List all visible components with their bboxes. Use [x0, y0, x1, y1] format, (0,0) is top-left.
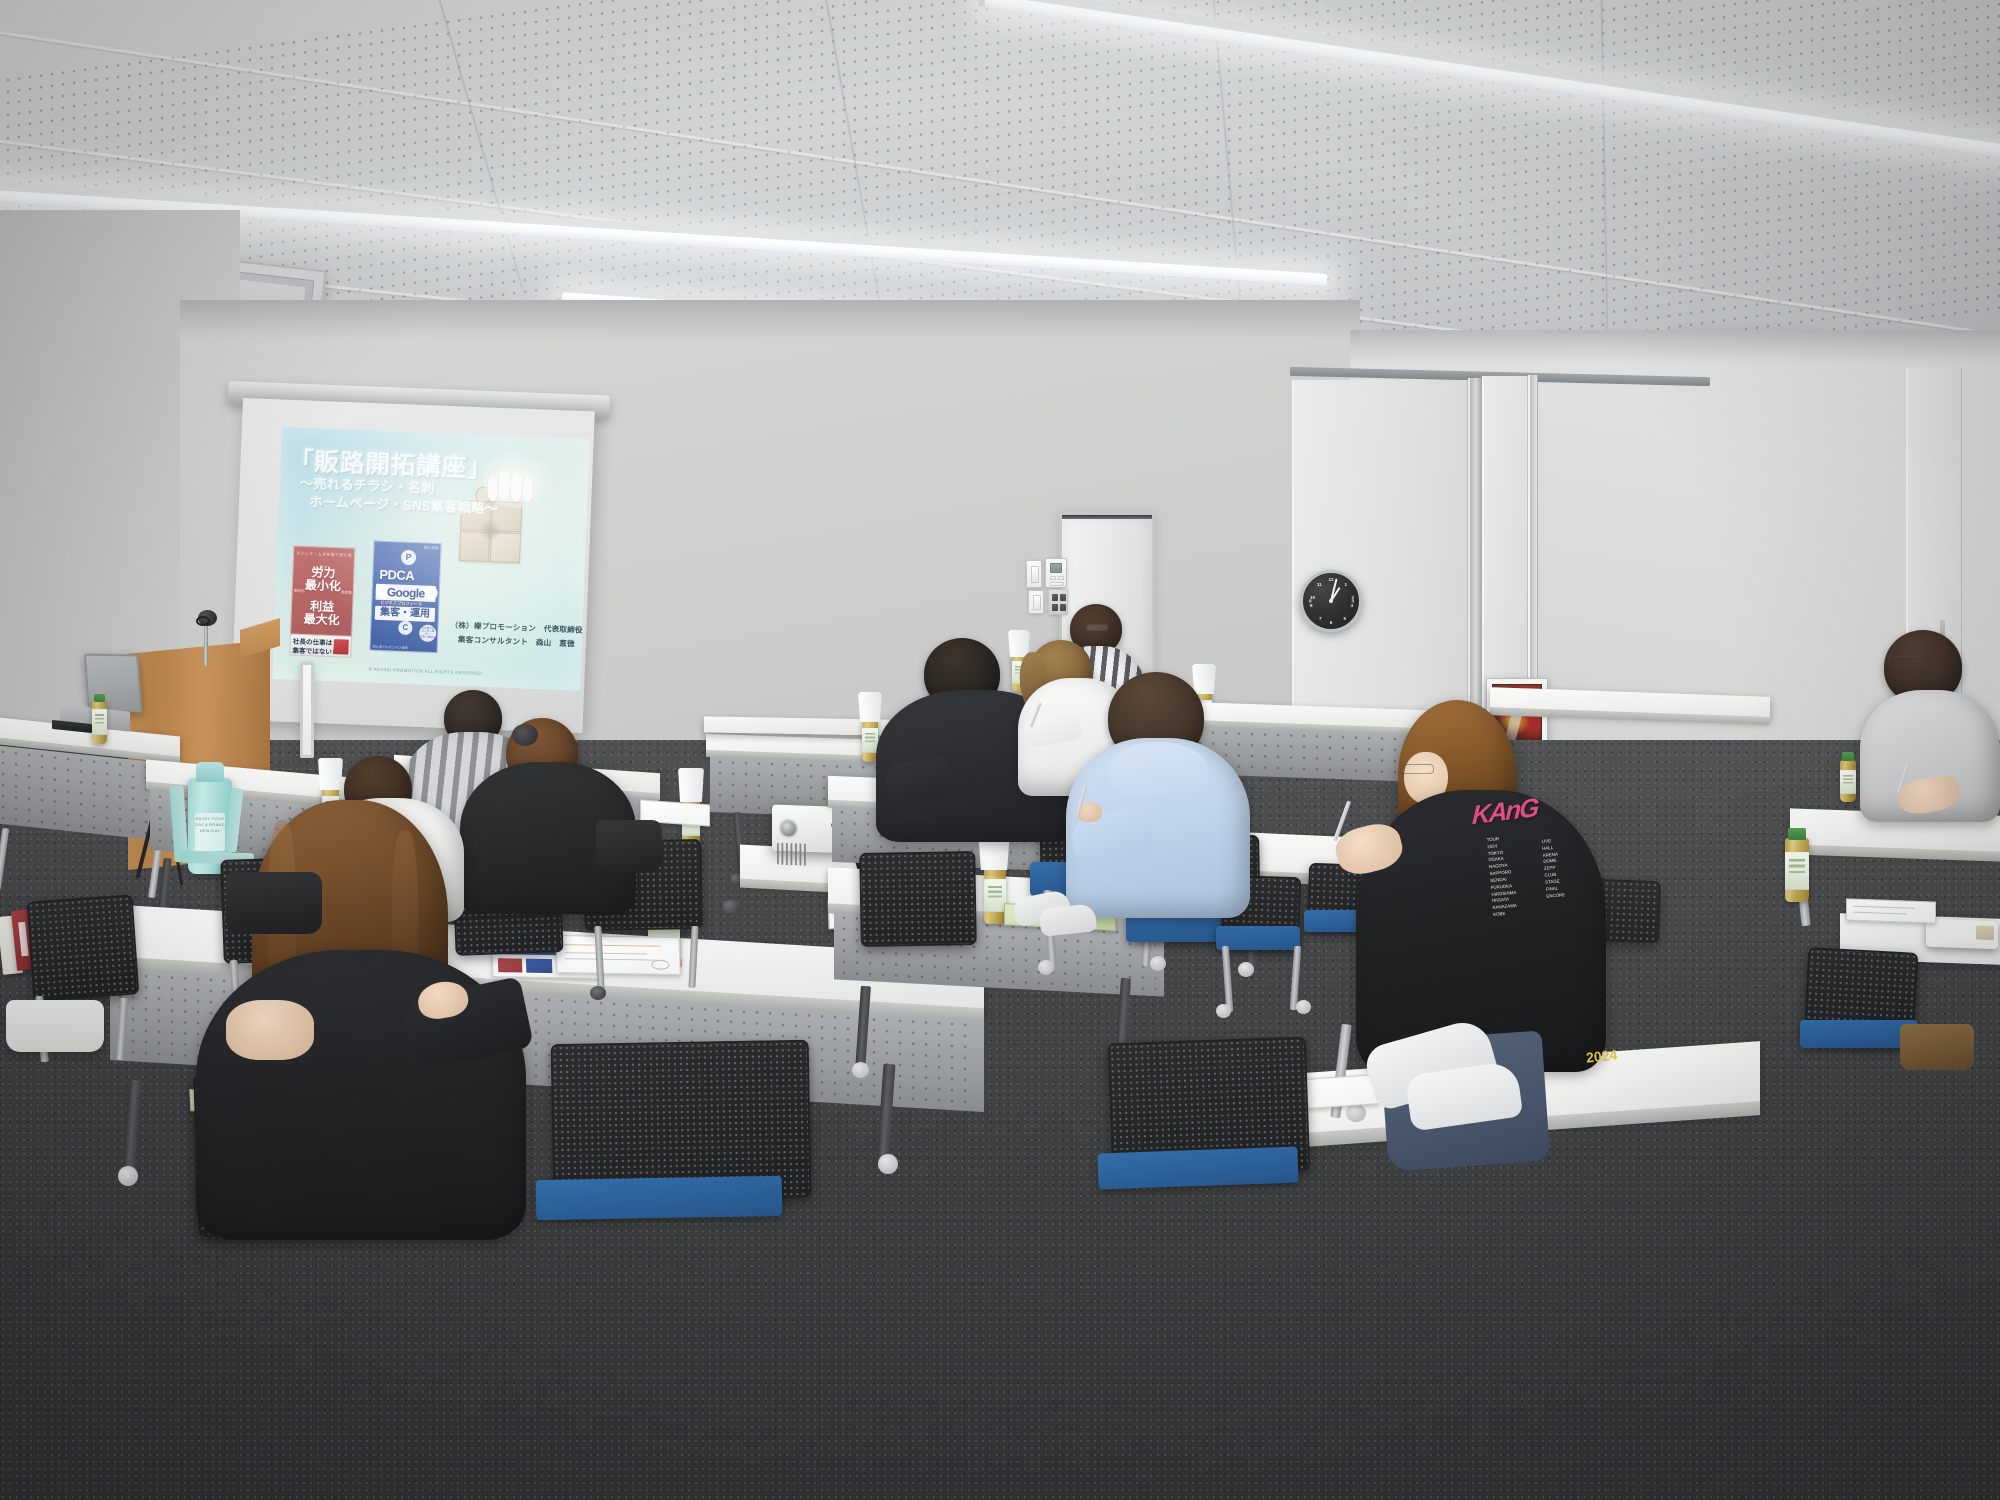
tea-bottle[interactable]	[984, 866, 1006, 924]
table-caster	[852, 1062, 869, 1078]
table-caster	[878, 1154, 898, 1174]
paper-cup[interactable]	[678, 768, 704, 802]
chair-caster	[722, 900, 740, 914]
pencil-case[interactable]	[1926, 919, 1998, 950]
seminar-room-photo: 「販路開拓講座」 ～売れるチラシ・名刺 ホームページ・SNS集客戦略～ ストレス…	[0, 0, 2000, 1500]
ac-control-panel[interactable]	[1045, 558, 1067, 588]
presentation-slide: 「販路開拓講座」 ～売れるチラシ・名刺 ホームページ・SNS集客戦略～ ストレス…	[272, 427, 589, 691]
tea-bottle-cap	[94, 694, 105, 702]
tea-bottle[interactable]	[1785, 838, 1809, 902]
wall-outlet-plate[interactable]	[1048, 589, 1068, 615]
chair-caster	[1296, 1000, 1311, 1014]
book-blue-band: 集客・運用	[375, 606, 435, 622]
book-red-line4: 最大化	[291, 610, 352, 629]
bag[interactable]	[226, 872, 322, 934]
tea-bottle[interactable]	[92, 700, 107, 744]
light-switch-plate[interactable]	[1028, 590, 1044, 614]
chair-caster	[1038, 960, 1054, 975]
book-red-band-line2: 集客ではない！	[292, 645, 339, 657]
book-red-band-badge	[333, 639, 349, 655]
book-blue-footer: 初心者でもカンタン運用	[373, 644, 408, 650]
attendee-7-hood	[1108, 742, 1208, 798]
tshirt-year: 2024	[1585, 1046, 1618, 1065]
light-switch-plate[interactable]	[1026, 560, 1042, 588]
book-blue-letter-c: C	[398, 621, 413, 636]
slide-presenter-line2: 集客コンサルタント 森山 直徳	[458, 634, 575, 649]
book-blue-corner: 森山 直徳	[424, 545, 439, 551]
attendee-8-glasses-icon	[1086, 624, 1108, 631]
paper-cup[interactable]	[318, 758, 343, 790]
table-caster	[118, 1166, 138, 1186]
slide-presenter-line1: （株）欅プロモーション 代表取締役	[450, 620, 583, 636]
bag[interactable]	[1900, 1024, 1974, 1070]
book-blue-pdca: PDCA	[379, 567, 414, 583]
mint-bottle-cap[interactable]	[196, 762, 224, 782]
handout-paper[interactable]	[555, 935, 680, 975]
book-blue-badge: 初心者でも カンタン操作！ 写真・投稿も	[419, 624, 437, 642]
tea-bottle[interactable]	[1840, 760, 1856, 802]
chair-seat[interactable]	[1097, 1147, 1298, 1190]
table-caster	[1346, 1104, 1366, 1122]
chair-seat[interactable]	[536, 1176, 783, 1220]
tea-bottle-cap	[1842, 752, 1854, 761]
projector-vent	[777, 843, 807, 866]
book-red-side-right: 高単価	[341, 590, 352, 595]
paper-cup[interactable]	[1192, 664, 1216, 694]
chair-caster	[1216, 1004, 1231, 1018]
door-header	[1062, 515, 1152, 519]
tea-bottle-cap	[1788, 828, 1806, 840]
slide-copyright: © KEYAKI PROMOTION ALL RIGHTS RESERVED	[369, 667, 482, 676]
attendee-2-scrunchie	[512, 724, 538, 746]
wall-shadow	[1350, 330, 2000, 364]
book-cover-blue: 森山 直徳 P A D C PDCA Google ビジネスプロフィール 集客・…	[369, 541, 441, 654]
chair-caster	[1150, 956, 1166, 971]
book-red-top-caption: ストレス・ムダを捨て切り見直す	[294, 547, 354, 562]
puzzle-illustration	[459, 478, 552, 573]
shoe	[1039, 903, 1098, 937]
wall-clock: 12 3 6 9 1 2 4 5 7 8 10 11	[1300, 570, 1362, 632]
table-caster	[1238, 962, 1254, 977]
projector-lens-icon	[779, 819, 798, 839]
book-cover-red-band: 社長の仕事は 集客ではない！	[289, 633, 352, 657]
book-red-side-left: 差別化	[294, 589, 305, 594]
whiteboard	[300, 662, 314, 758]
bag[interactable]	[6, 1000, 104, 1052]
bag[interactable]	[596, 820, 662, 872]
chair-back[interactable]	[859, 851, 977, 947]
handout-paper[interactable]	[1846, 898, 1936, 923]
attendee-9-glasses-icon	[1400, 764, 1434, 774]
chair-caster	[590, 986, 606, 1000]
book-blue-letter-p: P	[401, 550, 417, 566]
mint-bottle-label: ENJOY YOUR DAY A BRAND NEW DAY	[195, 813, 225, 851]
chair-back[interactable]	[27, 894, 140, 1001]
stamp-mark	[651, 960, 669, 970]
paper-cup[interactable]	[858, 692, 882, 722]
book-cover-red: ストレス・ムダを捨て切り見直す 労力 最小化 利益 最大化 差別化 高単価	[290, 546, 355, 640]
attendee-10-glasses-icon	[1888, 656, 1922, 666]
pencil-case-tag	[1976, 925, 1994, 940]
attendee-4-hand	[226, 1000, 314, 1060]
microphone-clip	[196, 616, 210, 626]
wall-shadow	[180, 300, 1360, 340]
